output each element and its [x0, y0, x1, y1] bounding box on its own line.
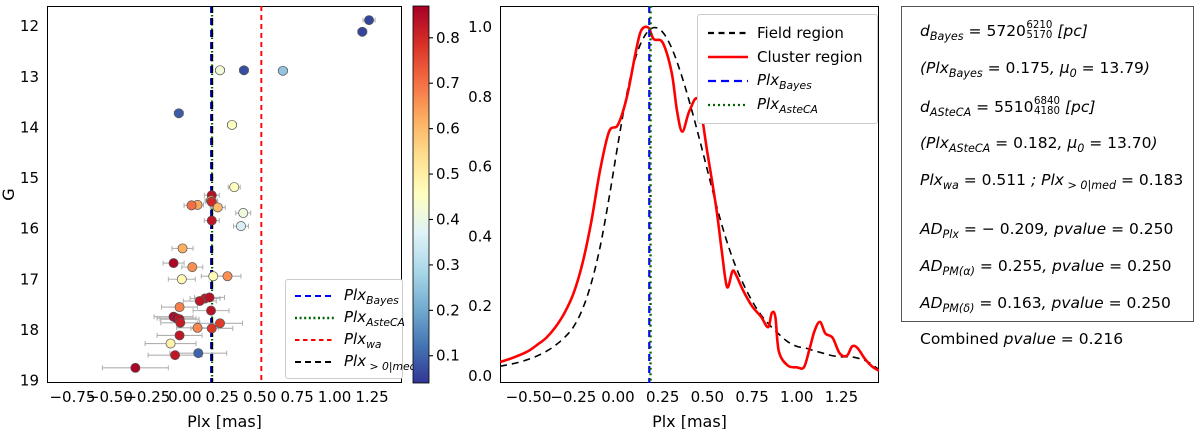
- legend-key-line-icon: [293, 289, 337, 303]
- colorbar-gradient: [413, 6, 429, 383]
- legend-item-2: Plxwa: [293, 329, 396, 351]
- eq-combined-pvalue: Combined pvalue = 0.216: [920, 331, 1177, 347]
- legend-key-line-icon: [706, 98, 750, 112]
- legend-item-3: PlxAsteCA: [706, 93, 869, 117]
- legend-item-1: PlxAsteCA: [293, 307, 396, 329]
- eq-ad-pm-delta: ADPM(δ) = 0.163, pvalue = 0.250: [920, 295, 1177, 315]
- legend-item-0: Field region: [706, 21, 869, 45]
- y-tick-label: 1.0: [468, 18, 492, 36]
- x-tick-label: 1.00: [318, 388, 351, 406]
- eq-ad-pm-alpha: ADPM(α) = 0.255, pvalue = 0.250: [920, 258, 1177, 278]
- legend-label: PlxAsteCA: [344, 308, 405, 329]
- y-tick-label: 17: [20, 270, 39, 288]
- x-tick-label: 0.25: [206, 388, 239, 406]
- summary-stats-textbox: dBayes = 572062105170 [pc] (PlxBayes = 0…: [901, 6, 1194, 322]
- legend-item-1: Cluster region: [706, 45, 869, 69]
- x-tick-label: 0.75: [735, 388, 768, 406]
- legend-key-line-icon: [706, 74, 750, 88]
- y-tick-label: 13: [20, 68, 39, 86]
- legend-label: PlxBayes: [344, 286, 399, 307]
- legend-label: Plxwa: [344, 330, 382, 351]
- y-tick-label: 0.4: [468, 227, 492, 245]
- legend-label: PlxBayes: [757, 71, 812, 92]
- x-tick-label: 0.25: [646, 388, 679, 406]
- y-tick-label: 15: [20, 169, 39, 187]
- x-tick-label: 0.75: [280, 388, 313, 406]
- x-tick-label: 0.00: [168, 388, 201, 406]
- eq-d-asteca: dASteCA = 551068404180 [pc]: [920, 97, 1177, 119]
- legend-key-line-icon: [293, 333, 337, 347]
- legend-key-line-icon: [706, 50, 750, 64]
- eq-plx-bayes: (PlxBayes = 0.175, μ0 = 13.79): [920, 60, 1177, 80]
- x-axis-title: Plx [mas]: [652, 412, 727, 429]
- y-tick-label: 0.6: [468, 158, 492, 176]
- x-tick-label: 1.00: [780, 388, 813, 406]
- x-tick-label: 1.25: [825, 388, 858, 406]
- y-tick-label: 18: [20, 321, 39, 339]
- eq-ad-plx: ADPlx = − 0.209, pvalue = 0.250: [920, 221, 1177, 241]
- eq-d-bayes: dBayes = 572062105170 [pc]: [920, 21, 1177, 43]
- x-tick-label: 0.50: [691, 388, 724, 406]
- y-tick-label: 16: [20, 220, 39, 238]
- eq-plx-asteca: (PlxASteCA = 0.182, μ0 = 13.70): [920, 135, 1177, 155]
- y-tick-label: 19: [20, 371, 39, 389]
- eq-plx-wa: Plxwa = 0.511 ; Plx > 0|med = 0.183: [920, 172, 1177, 192]
- legend-label: Field region: [757, 24, 844, 42]
- x-tick-label: 0.00: [601, 388, 634, 406]
- y-axis-title: G: [0, 188, 18, 200]
- x-tick-label: 0.50: [243, 388, 276, 406]
- figure-canvas: −0.75−0.50−0.250.000.250.500.751.001.251…: [0, 0, 1200, 429]
- x-tick-label: −0.25: [550, 388, 596, 406]
- x-axis-title: Plx [mas]: [187, 412, 262, 429]
- y-tick-label: 12: [20, 17, 39, 35]
- legend-item-0: PlxBayes: [293, 285, 396, 307]
- x-tick-label: −0.25: [124, 388, 170, 406]
- y-tick-label: 0.0: [468, 367, 492, 385]
- legend-key-line-icon: [293, 355, 337, 369]
- middle-panel-legend: Field regionCluster regionPlxBayesPlxAst…: [697, 14, 878, 124]
- left-panel-legend: PlxBayesPlxAsteCAPlxwaPlx > 0|med: [285, 279, 403, 379]
- x-tick-label: −0.50: [506, 388, 552, 406]
- x-tick-label: 1.25: [355, 388, 388, 406]
- legend-label: PlxAsteCA: [757, 95, 818, 116]
- legend-item-2: PlxBayes: [706, 69, 869, 93]
- y-tick-label: 0.2: [468, 297, 492, 315]
- legend-key-line-icon: [706, 26, 750, 40]
- y-tick-label: 0.8: [468, 88, 492, 106]
- legend-label: Cluster region: [757, 48, 862, 66]
- legend-key-line-icon: [293, 311, 337, 325]
- y-tick-label: 14: [20, 118, 39, 136]
- legend-item-3: Plx > 0|med: [293, 351, 396, 373]
